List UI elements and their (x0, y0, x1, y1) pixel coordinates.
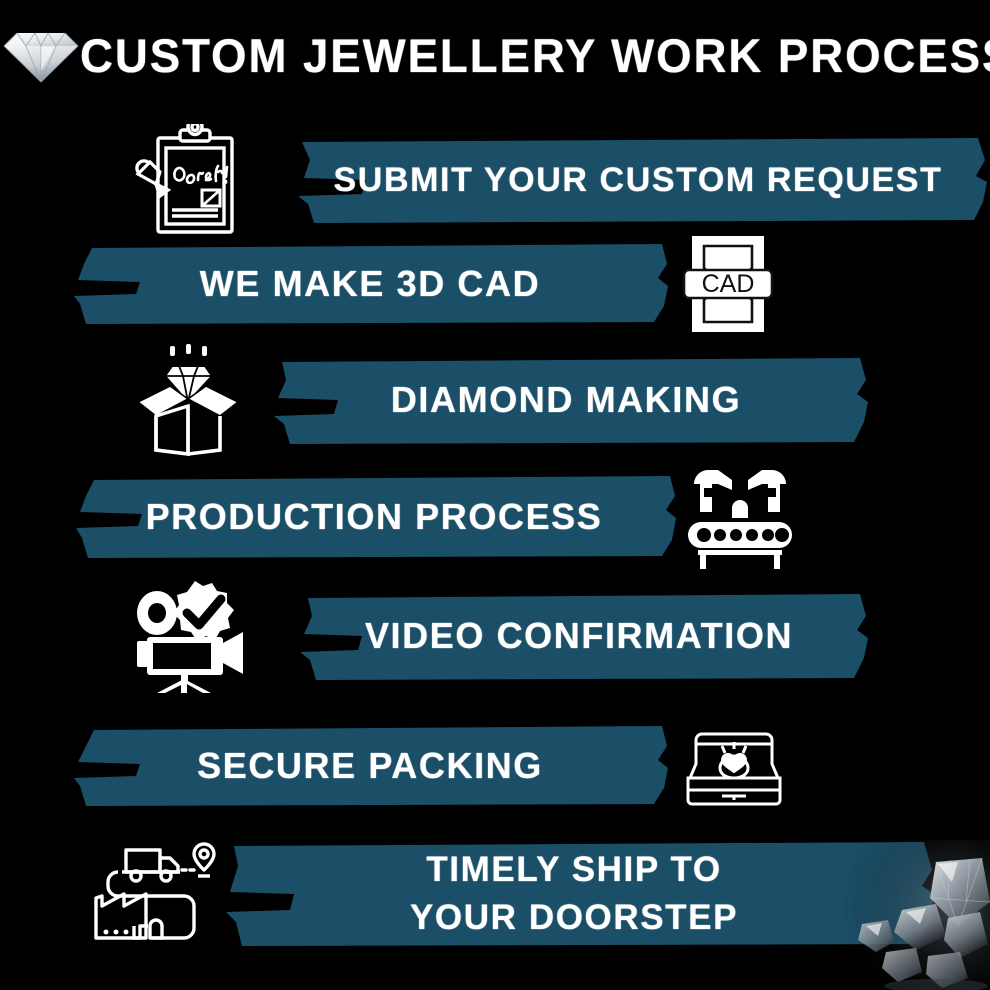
cad-file-icon: CAD (676, 238, 780, 330)
process-step-6[interactable]: SECURE PACKING (0, 720, 990, 812)
infographic-poster: CUSTOM JEWELLERY WORK PROCESS (0, 0, 990, 990)
step-5-banner (288, 586, 870, 686)
process-step-3[interactable]: DIAMOND MAKING (0, 350, 990, 450)
process-step-4[interactable]: PRODUCTION PROCESS (0, 470, 990, 564)
step-4-banner (70, 470, 678, 564)
open-box-diamond-icon (122, 350, 256, 450)
diamond-gem-icon (2, 26, 80, 84)
ring-jewelry-box-icon (678, 720, 790, 812)
factory-truck-route-icon (86, 836, 226, 952)
conveyor-robot-arm-icon (682, 470, 798, 564)
process-step-7[interactable]: TIMELY SHIP TO YOUR DOORSTEP (0, 836, 990, 952)
page-title: CUSTOM JEWELLERY WORK PROCESS (80, 28, 963, 84)
step-1-banner (288, 130, 988, 230)
process-step-5[interactable]: VIDEO CONFIRMATION (0, 586, 990, 686)
process-step-1[interactable]: SUBMIT YOUR CUSTOM REQUEST (0, 130, 990, 230)
process-step-2[interactable]: WE MAKE 3D CAD CAD (0, 238, 990, 330)
cad-icon-text: CAD (702, 270, 755, 298)
video-camera-check-icon (126, 586, 262, 686)
clipboard-order-pencil-icon (118, 130, 258, 230)
step-3-banner (262, 350, 870, 450)
step-6-banner (70, 720, 670, 812)
step-2-banner (70, 238, 670, 330)
step-7-banner (212, 836, 936, 952)
poster-header: CUSTOM JEWELLERY WORK PROCESS (0, 0, 990, 108)
